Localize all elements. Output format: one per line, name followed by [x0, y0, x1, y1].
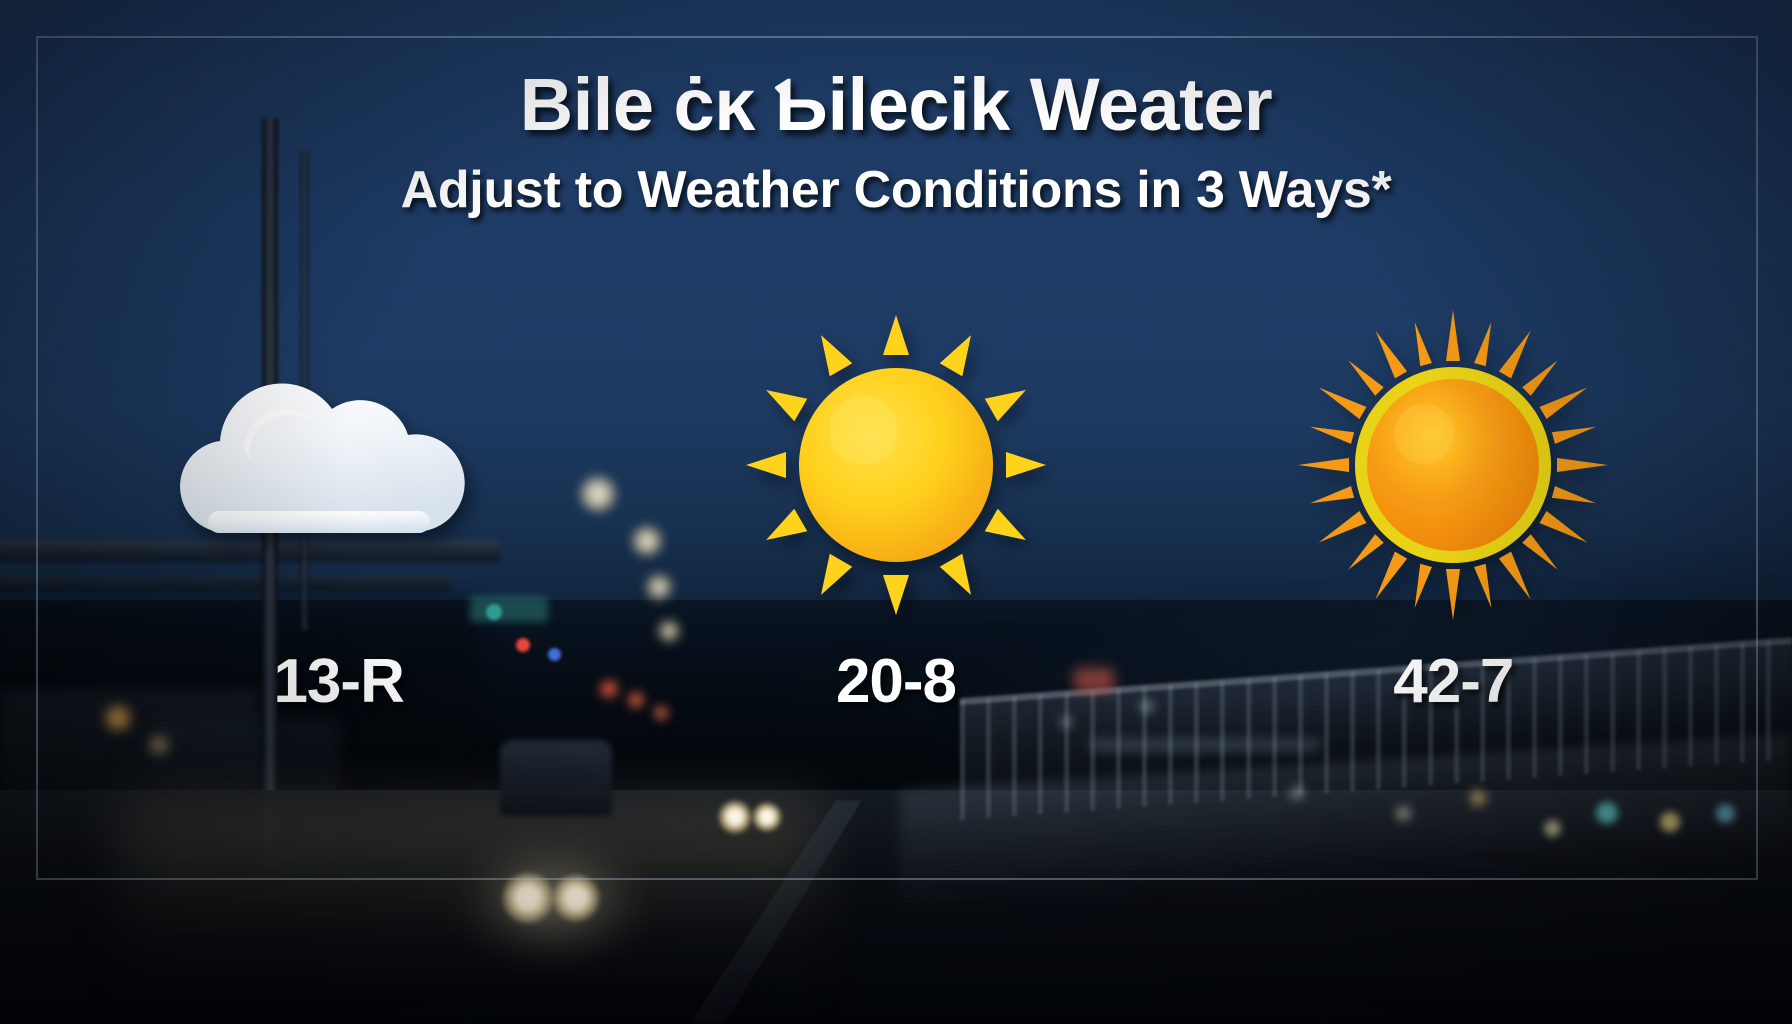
- weather-poster: Bile ċĸ Ƅilecik Weater Adjust to Weather…: [0, 0, 1792, 1024]
- weather-value-label: 13-R: [273, 646, 403, 717]
- weather-card[interactable]: 42-7: [1238, 300, 1668, 717]
- vehicle-headlight-bloom: [462, 846, 642, 956]
- weather-icon-slot: [1288, 300, 1618, 630]
- weather-card[interactable]: 20-8: [681, 300, 1111, 717]
- city-light: [1544, 820, 1561, 837]
- weather-card[interactable]: 13-R: [124, 300, 554, 717]
- poster-subtitle: Adjust to Weather Conditions in 3 Ways*: [0, 160, 1792, 220]
- poster-title: Bile ċĸ Ƅilecik Weater: [0, 62, 1792, 147]
- sun-rays-icon: [1288, 300, 1618, 630]
- weather-value-label: 20-8: [836, 646, 956, 717]
- cloud-icon: [174, 335, 504, 595]
- weather-icon-slot: [731, 300, 1061, 630]
- weather-card-row: 13-R: [60, 300, 1732, 820]
- sun-icon: [731, 300, 1061, 630]
- weather-value-label: 42-7: [1393, 646, 1513, 717]
- weather-icon-slot: [174, 300, 504, 630]
